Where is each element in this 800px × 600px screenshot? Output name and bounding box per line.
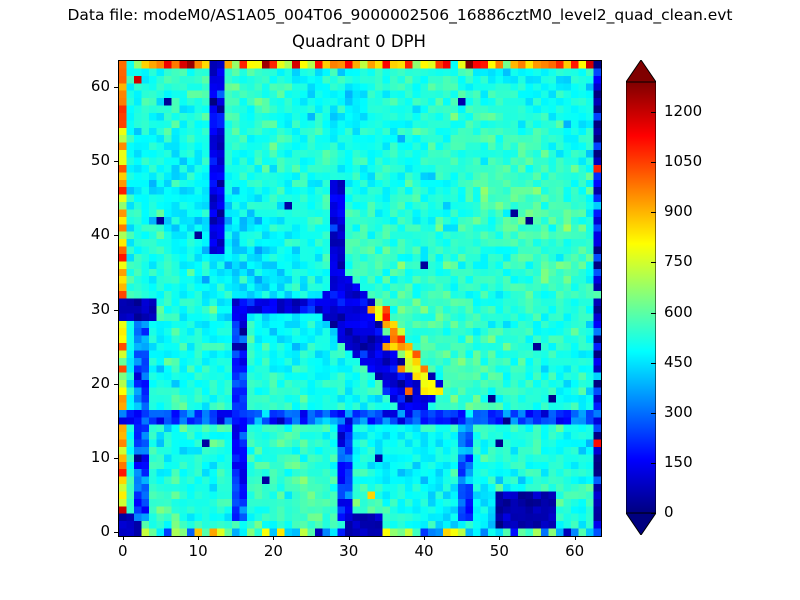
colorbar-tick-mark bbox=[651, 162, 656, 163]
y-tick-label: 50 bbox=[52, 152, 110, 169]
x-tick-mark bbox=[424, 536, 425, 540]
data-file-suptitle: Data file: modeM0/AS1A05_004T06_90000025… bbox=[0, 6, 800, 24]
x-tick-label: 10 bbox=[168, 543, 228, 560]
x-tick-mark bbox=[198, 536, 199, 540]
colorbar-extend-min-arrow bbox=[626, 513, 656, 535]
colorbar-tick-label: 150 bbox=[664, 454, 693, 471]
y-tick-mark bbox=[114, 161, 118, 162]
plot-title: Quadrant 0 DPH bbox=[118, 32, 600, 52]
figure-canvas: Data file: modeM0/AS1A05_004T06_90000025… bbox=[0, 0, 800, 600]
x-tick-label: 50 bbox=[469, 543, 529, 560]
x-tick-label: 40 bbox=[394, 543, 454, 560]
colorbar-tick-mark bbox=[651, 262, 656, 263]
y-tick-label: 60 bbox=[52, 78, 110, 95]
y-tick-mark bbox=[114, 458, 118, 459]
y-tick-mark bbox=[114, 384, 118, 385]
colorbar-tick-mark bbox=[651, 313, 656, 314]
colorbar-tick-label: 300 bbox=[664, 404, 693, 421]
y-tick-mark bbox=[114, 310, 118, 311]
colorbar-tick-mark bbox=[651, 363, 656, 364]
x-tick-label: 60 bbox=[545, 543, 605, 560]
colorbar-tick-label: 750 bbox=[664, 253, 693, 270]
x-tick-mark bbox=[499, 536, 500, 540]
y-tick-label: 0 bbox=[52, 523, 110, 540]
colorbar-tick-mark bbox=[651, 463, 656, 464]
x-tick-mark bbox=[349, 536, 350, 540]
x-tick-mark bbox=[273, 536, 274, 540]
y-tick-label: 40 bbox=[52, 226, 110, 243]
colorbar-tick-label: 0 bbox=[664, 504, 674, 521]
colorbar-tick-mark bbox=[651, 212, 656, 213]
colorbar-body bbox=[626, 82, 656, 513]
colorbar-tick-label: 900 bbox=[664, 203, 693, 220]
y-tick-label: 10 bbox=[52, 449, 110, 466]
colorbar-tick-mark bbox=[651, 413, 656, 414]
detector-heatmap-image[interactable] bbox=[119, 61, 601, 536]
colorbar-tick-mark bbox=[651, 513, 656, 514]
y-tick-label: 20 bbox=[52, 375, 110, 392]
x-tick-mark bbox=[575, 536, 576, 540]
x-tick-label: 0 bbox=[93, 543, 153, 560]
colorbar-tick-label: 600 bbox=[664, 304, 693, 321]
heatmap-axes[interactable] bbox=[118, 60, 602, 537]
x-tick-label: 20 bbox=[243, 543, 303, 560]
colorbar-tick-mark bbox=[651, 112, 656, 113]
colorbar-extend-max-arrow bbox=[626, 60, 656, 82]
colorbar-tick-label: 1200 bbox=[664, 103, 702, 120]
y-tick-mark bbox=[114, 235, 118, 236]
colorbar-tick-label: 1050 bbox=[664, 153, 702, 170]
y-tick-mark bbox=[114, 532, 118, 533]
colorbar-tick-label: 450 bbox=[664, 354, 693, 371]
y-tick-mark bbox=[114, 87, 118, 88]
y-tick-label: 30 bbox=[52, 301, 110, 318]
x-tick-mark bbox=[123, 536, 124, 540]
x-tick-label: 30 bbox=[319, 543, 379, 560]
